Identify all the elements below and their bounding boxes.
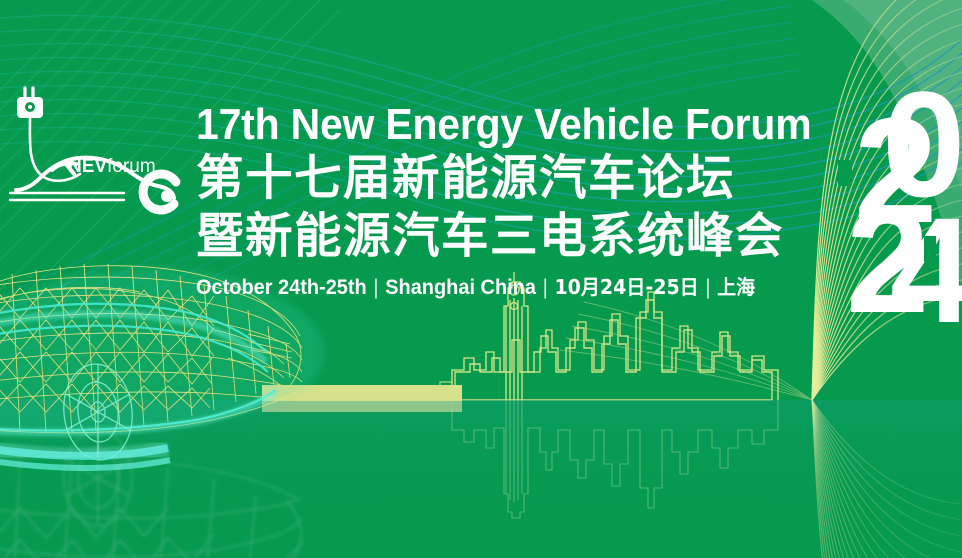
headline-block: 17th New Energy Vehicle Forum 第十七届新能源汽车论…: [196, 100, 836, 301]
separator-1: |: [367, 276, 385, 299]
nevforum-logo[interactable]: NEVforum: [6, 78, 184, 216]
event-date-cn: 10月24日-25日: [554, 275, 698, 299]
headline-english: 17th New Energy Vehicle Forum: [196, 100, 791, 150]
year-digit-4: 4: [890, 186, 962, 354]
separator-2: |: [536, 276, 554, 299]
headline-chinese-1: 第十七届新能源汽车论坛: [196, 150, 830, 206]
event-date-en: October 24th-25th: [196, 276, 367, 299]
car-wheel-swoosh-icon: [143, 174, 176, 210]
logo-wordmark-light: forum: [107, 156, 156, 177]
headline-chinese-2: 暨新能源汽车三电系统峰会: [196, 208, 830, 264]
ev-plug-body-icon: [17, 97, 43, 118]
logo-wordmark-bold: NEV: [68, 156, 107, 177]
separator-3: |: [699, 276, 717, 299]
logo-speed-lines: [10, 193, 124, 200]
ev-plug-icon: [25, 88, 33, 97]
event-location-cn: 上海: [717, 275, 755, 299]
logo-wordmark: NEVforum: [68, 157, 156, 176]
nevforum-logo-mark: [6, 78, 184, 216]
event-location-en: Shanghai China: [385, 276, 536, 299]
event-info-line: October 24th-25th|Shanghai China|10月24日-…: [196, 274, 804, 301]
event-poster: 2 0 2 4: [0, 0, 962, 558]
